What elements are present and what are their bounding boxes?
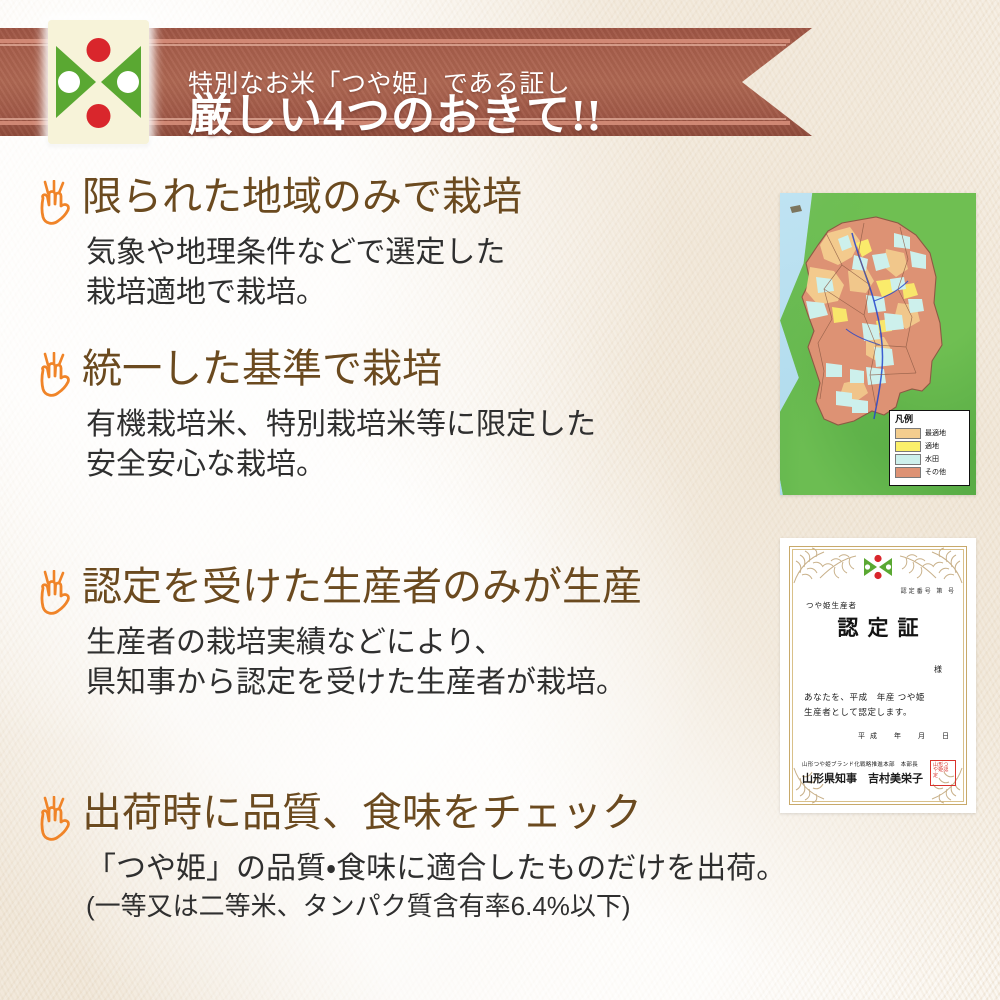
legend-label-sonota: その他 bbox=[925, 469, 946, 476]
certificate-red-seal: 山形つや姫認定 bbox=[930, 760, 956, 786]
rule-3-title: 認定を受けた生産者のみが生産 bbox=[82, 566, 642, 608]
rule-3-body: 生産者の栽培実績などにより、 県知事から認定を受けた生産者が栽培。 bbox=[86, 623, 642, 702]
map-legend-row: 適地 bbox=[895, 441, 965, 452]
ribbon-title: 厳しい4つのおきて!! bbox=[188, 94, 788, 138]
rule-3-body-line-1: 生産者の栽培実績などにより、 bbox=[86, 623, 642, 663]
map-legend-row: 水田 bbox=[895, 454, 965, 465]
yamagata-cultivation-area-map: 凡例 最適地 適地 水田 その他 bbox=[780, 193, 976, 495]
rule-4-head: 出荷時に品質、食味をチェック bbox=[34, 792, 786, 844]
tsuyahime-brand-logo-icon bbox=[863, 554, 893, 580]
rule-1-title: 限られた地域のみで栽培 bbox=[82, 176, 522, 218]
rule-2-title: 統一した基準で栽培 bbox=[82, 348, 442, 390]
tsuyahime-brand-logo-icon bbox=[48, 20, 149, 144]
rule-4-body-line-1: 「つや姫」の品質・食味に適合したものだけを出荷。 bbox=[86, 849, 786, 889]
infographic-page: 特別なお米「つや姫」である証し 厳しい4つのおきて!! 限られた地域のみで栽培 … bbox=[0, 0, 1000, 1000]
certificate-body-line-2: 生産者として認定します。 bbox=[804, 705, 960, 720]
rice-ear-decoration-icon bbox=[816, 552, 858, 582]
map-legend-row: 最適地 bbox=[895, 428, 965, 439]
legend-label-saitekichi: 最適地 bbox=[925, 430, 946, 437]
certificate-body-line-1: あなたを、平成 年産 つや姫 bbox=[804, 690, 960, 705]
rule-4-note: (一等又は二等米、タンパク質含有率6.4%以下) bbox=[86, 890, 786, 923]
legend-swatch-tekichi bbox=[895, 441, 921, 452]
rule-4-title: 出荷時に品質、食味をチェック bbox=[82, 792, 642, 834]
rule-2-body-line-1: 有機栽培米、特別栽培米等に限定した bbox=[86, 405, 596, 445]
legend-label-suiden: 水田 bbox=[925, 456, 939, 463]
pointing-hand-icon bbox=[34, 796, 76, 844]
map-legend: 凡例 最適地 適地 水田 その他 bbox=[889, 410, 970, 486]
legend-label-tekichi: 適地 bbox=[925, 443, 939, 450]
certificate-recipient: 様 bbox=[934, 664, 942, 675]
pointing-hand-icon bbox=[34, 180, 76, 228]
rule-item-1: 限られた地域のみで栽培 気象や地理条件などで選定した 栽培適地で栽培。 bbox=[34, 176, 522, 312]
pointing-hand-icon bbox=[34, 352, 76, 400]
certificate-subtitle: つや姫生産者 bbox=[806, 600, 857, 611]
certificate-date-line: 平成 年 月 日 bbox=[858, 731, 954, 741]
map-legend-row: その他 bbox=[895, 467, 965, 478]
rule-1-body: 気象や地理条件などで選定した 栽培適地で栽培。 bbox=[86, 233, 522, 312]
legend-swatch-sonota bbox=[895, 467, 921, 478]
rule-1-body-line-2: 栽培適地で栽培。 bbox=[86, 273, 522, 313]
certificate-organization: 山形つや姫ブランド化戦略推進本部 本部長 bbox=[802, 760, 918, 768]
rule-item-2: 統一した基準で栽培 有機栽培米、特別栽培米等に限定した 安全安心な栽培。 bbox=[34, 348, 596, 484]
rice-ear-decoration-icon bbox=[898, 552, 940, 582]
rule-2-body: 有機栽培米、特別栽培米等に限定した 安全安心な栽培。 bbox=[86, 405, 596, 484]
rule-3-body-line-2: 県知事から認定を受けた生産者が栽培。 bbox=[86, 663, 642, 703]
rule-4-body: 「つや姫」の品質・食味に適合したものだけを出荷。 bbox=[86, 849, 786, 889]
certificate-number-line: 認定番号 第 号 bbox=[901, 586, 956, 595]
rule-1-head: 限られた地域のみで栽培 bbox=[34, 176, 522, 228]
pointing-hand-icon bbox=[34, 570, 76, 618]
rule-2-body-line-2: 安全安心な栽培。 bbox=[86, 445, 596, 485]
rule-1-body-line-1: 気象や地理条件などで選定した bbox=[86, 233, 522, 273]
certificate-body: あなたを、平成 年産 つや姫 生産者として認定します。 bbox=[804, 690, 960, 720]
tsuyahime-producer-certificate: 認定番号 第 号 つや姫生産者 認定証 様 あなたを、平成 年産 つや姫 生産者… bbox=[780, 538, 976, 813]
certificate-title: 認定証 bbox=[780, 612, 976, 642]
tsuyahime-brand-logo bbox=[48, 20, 149, 144]
rule-2-head: 統一した基準で栽培 bbox=[34, 348, 596, 400]
rule-item-3: 認定を受けた生産者のみが生産 生産者の栽培実績などにより、 県知事から認定を受け… bbox=[34, 566, 642, 702]
legend-swatch-saitekichi bbox=[895, 428, 921, 439]
certificate-signature: 山形県知事 吉村美栄子 bbox=[802, 770, 923, 786]
legend-swatch-suiden bbox=[895, 454, 921, 465]
rule-3-head: 認定を受けた生産者のみが生産 bbox=[34, 566, 642, 618]
rule-item-4: 出荷時に品質、食味をチェック 「つや姫」の品質・食味に適合したものだけを出荷。 … bbox=[34, 792, 786, 922]
map-legend-title: 凡例 bbox=[895, 415, 965, 425]
